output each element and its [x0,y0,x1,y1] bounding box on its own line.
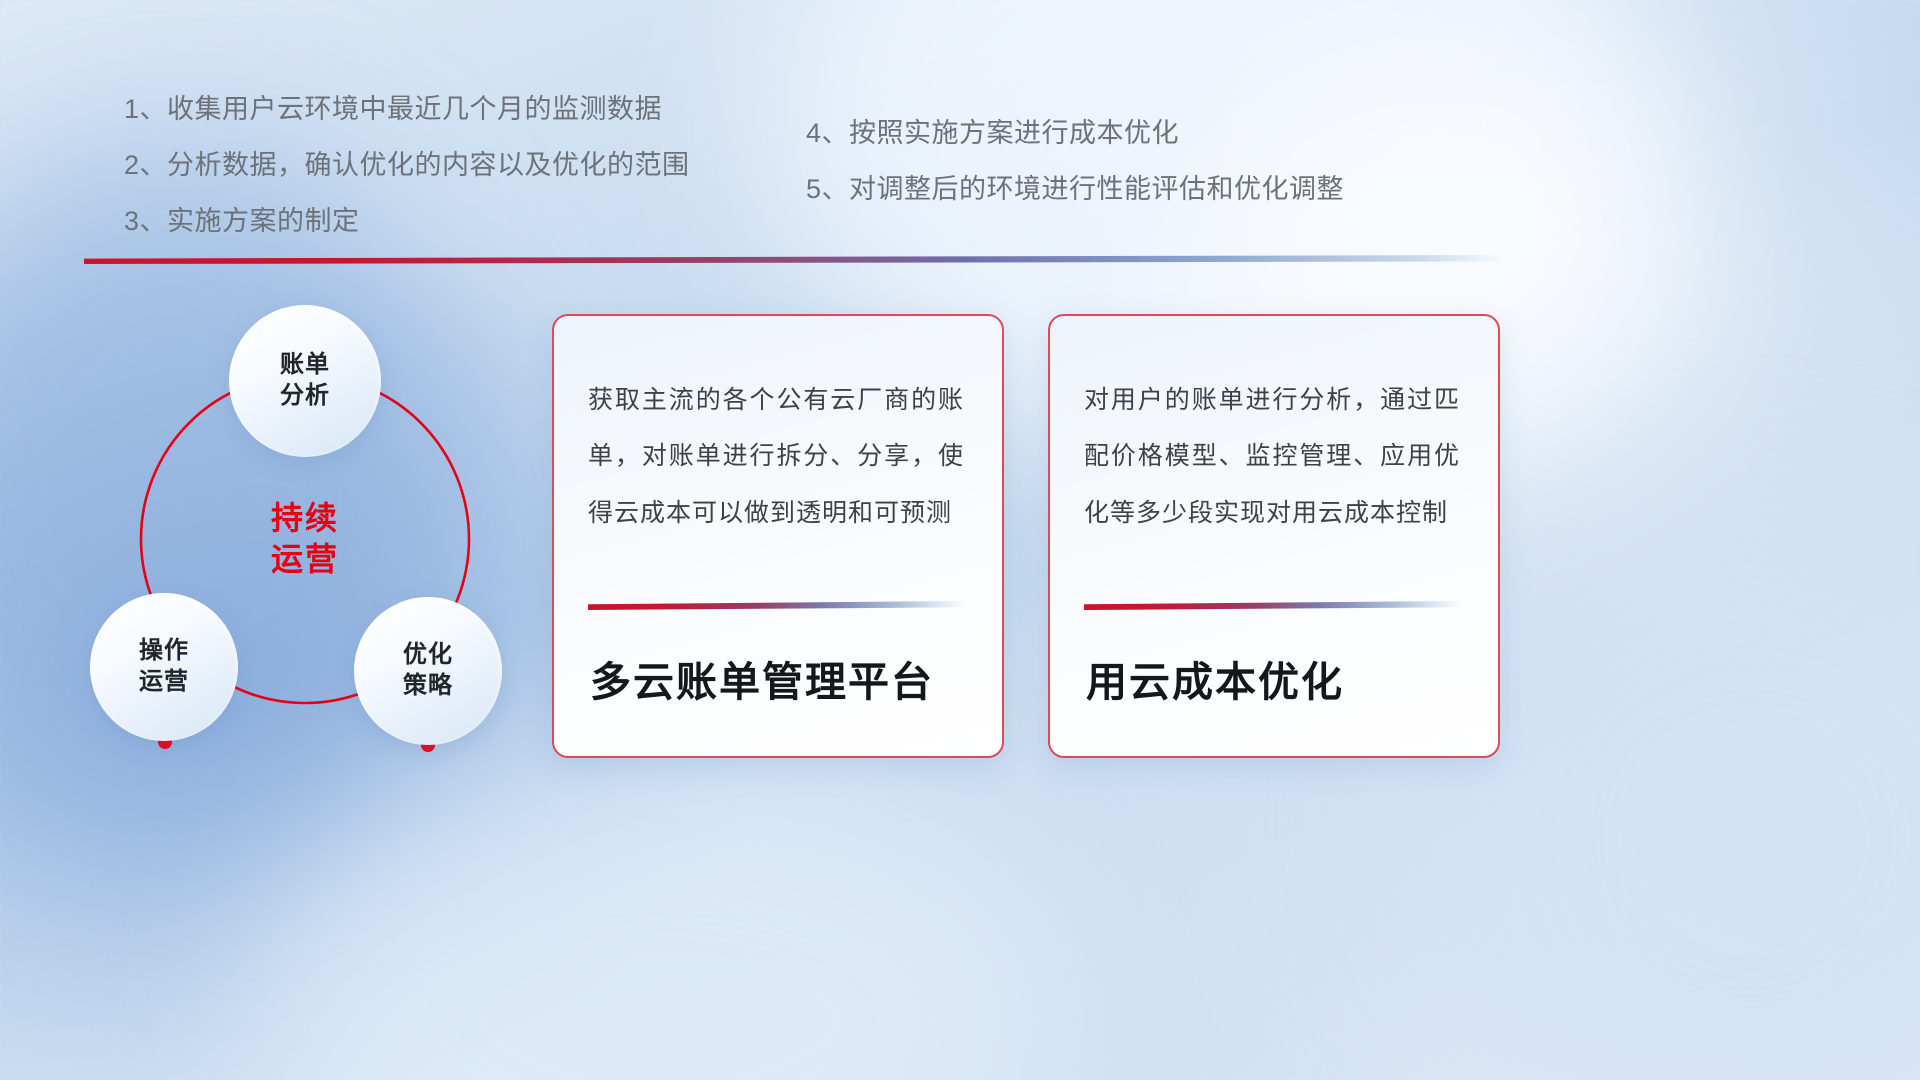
venn-node-right-line1: 优化 [403,641,453,668]
venn-node-bill-analysis[interactable]: 账单分析 [229,305,381,457]
venn-node-optimization-label: 优化策略 [403,640,453,701]
background-blob-bottom [250,760,1070,1080]
steps-right-column: 4、按照实施方案进行成本优化 5、对调整后的环境进行性能评估和优化调整 [806,120,1344,232]
card-body-text: 获取主流的各个公有云厂商的账单，对账单进行拆分、分享，使得云成本可以做到透明和可… [588,372,964,541]
step-item-1: 1、收集用户云环境中最近几个月的监测数据 [124,96,690,123]
venn-node-top-line1: 账单 [280,351,330,378]
venn-node-top-line2: 分析 [280,382,330,409]
venn-node-right-line2: 策略 [403,672,453,699]
card-title: 多云账单管理平台 [590,648,964,756]
venn-center-line1: 持续 [271,500,339,536]
step-item-2: 2、分析数据，确认优化的内容以及优化的范围 [124,152,690,179]
venn-node-left-line2: 运营 [139,668,189,695]
step-item-3: 3、实施方案的制定 [124,208,690,235]
venn-node-operations-label: 操作运营 [139,636,189,697]
venn-center-text: 持续运营 [271,498,339,580]
step-item-4: 4、按照实施方案进行成本优化 [806,120,1344,147]
steps-left-column: 1、收集用户云环境中最近几个月的监测数据 2、分析数据，确认优化的内容以及优化的… [124,96,690,264]
venn-diagram: 账单分析 操作运营 优化策略 持续运营 [80,292,550,772]
card-body-text: 对用户的账单进行分析，通过匹配价格模型、监控管理、应用优化等多少段实现对用云成本… [1084,372,1460,541]
card-title: 用云成本优化 [1086,648,1460,756]
venn-center-label: 持续运营 [235,484,375,594]
step-item-5: 5、对调整后的环境进行性能评估和优化调整 [806,176,1344,203]
card-multi-cloud-billing[interactable]: 获取主流的各个公有云厂商的账单，对账单进行拆分、分享，使得云成本可以做到透明和可… [552,314,1004,758]
venn-node-left-line1: 操作 [139,637,189,664]
venn-node-bill-analysis-label: 账单分析 [280,350,330,411]
venn-node-optimization-strategy[interactable]: 优化策略 [354,597,502,745]
card-list: 获取主流的各个公有云厂商的账单，对账单进行拆分、分享，使得云成本可以做到透明和可… [552,314,1500,758]
card-cloud-cost-optimization[interactable]: 对用户的账单进行分析，通过匹配价格模型、监控管理、应用优化等多少段实现对用云成本… [1048,314,1500,758]
card-divider [1084,601,1460,610]
venn-node-operations[interactable]: 操作运营 [90,593,238,741]
card-divider [588,601,964,610]
background-blob-right [1430,520,1920,1080]
venn-center-line2: 运营 [271,541,339,577]
